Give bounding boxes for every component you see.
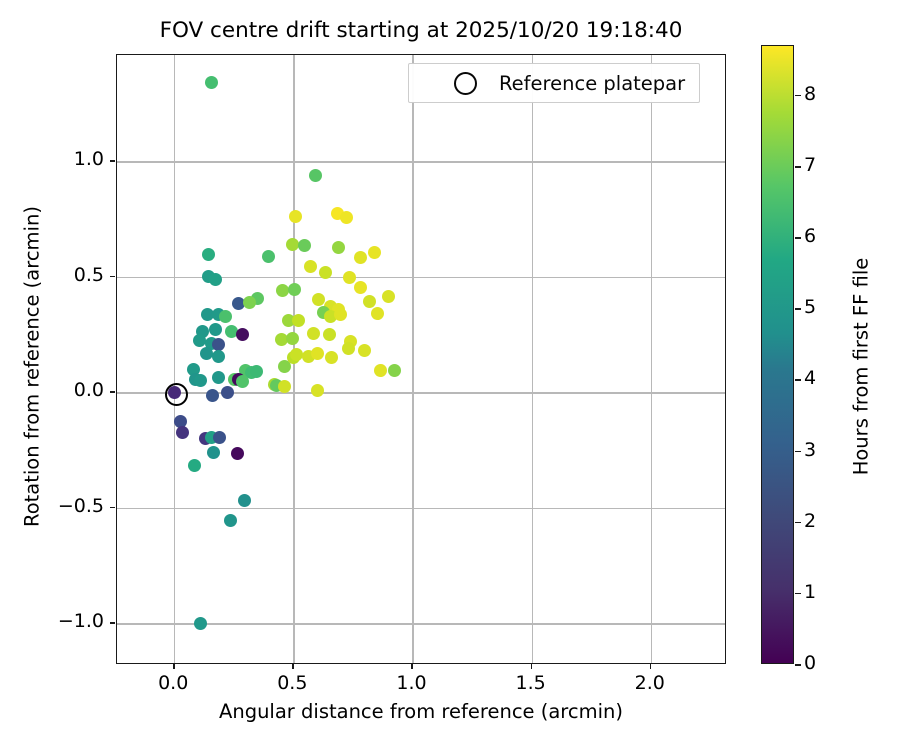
colorbar-tick [795, 237, 801, 239]
scatter-point [262, 250, 275, 263]
y-tick [110, 160, 115, 162]
scatter-point [304, 260, 317, 273]
gridline-vertical [412, 55, 413, 663]
scatter-point [374, 364, 387, 377]
scatter-point [224, 514, 237, 527]
scatter-point [200, 347, 213, 360]
colorbar-tick-label: 4 [804, 367, 816, 389]
scatter-point [368, 246, 381, 259]
plot-area [117, 55, 725, 663]
scatter-point [243, 296, 256, 309]
scatter-point [319, 266, 332, 279]
x-tick-label: 0.5 [252, 672, 332, 694]
x-axis-label: Angular distance from reference (arcmin) [116, 700, 726, 723]
colorbar [761, 45, 794, 664]
scatter-point [188, 459, 201, 472]
scatter-point [311, 347, 324, 360]
gridline-vertical [532, 55, 533, 663]
chart-root: FOV centre drift starting at 2025/10/20 … [0, 0, 900, 750]
x-tick [650, 664, 652, 669]
colorbar-tick [795, 95, 801, 97]
scatter-point [209, 273, 222, 286]
scatter-point [236, 375, 249, 388]
scatter-point [388, 364, 401, 377]
scatter-point [288, 283, 301, 296]
gridline-vertical [651, 55, 652, 663]
x-tick [173, 664, 175, 669]
scatter-point [334, 308, 347, 321]
scatter-point [194, 617, 207, 630]
y-tick [110, 391, 115, 393]
scatter-point [213, 431, 226, 444]
scatter-point [202, 248, 215, 261]
scatter-point [205, 76, 218, 89]
scatter-point [358, 344, 371, 357]
scatter-point [176, 426, 189, 439]
colorbar-tick-label: 1 [804, 581, 816, 603]
scatter-point [382, 290, 395, 303]
scatter-point [207, 446, 220, 459]
y-tick [110, 276, 115, 278]
colorbar-tick-label: 5 [804, 296, 816, 318]
gridline-horizontal [117, 161, 725, 162]
reference-platepar-marker [165, 383, 188, 406]
chart-title: FOV centre drift starting at 2025/10/20 … [0, 18, 842, 43]
scatter-point [278, 380, 291, 393]
scatter-point [238, 494, 251, 507]
colorbar-tick-label: 0 [804, 652, 816, 674]
gridline-horizontal [117, 623, 725, 624]
scatter-point [219, 310, 232, 323]
colorbar-tick [795, 522, 801, 524]
scatter-point [193, 334, 206, 347]
scatter-point [371, 307, 384, 320]
x-tick-label: 1.0 [371, 672, 451, 694]
colorbar-tick [795, 166, 801, 168]
scatter-point [312, 293, 325, 306]
scatter-point [343, 271, 356, 284]
colorbar-tick-label: 8 [804, 83, 816, 105]
gridline-horizontal [117, 508, 725, 509]
scatter-point [212, 350, 225, 363]
x-tick [411, 664, 413, 669]
scatter-point [236, 328, 249, 341]
colorbar-tick [795, 451, 801, 453]
scatter-point [332, 241, 345, 254]
scatter-point [309, 169, 322, 182]
y-tick [110, 507, 115, 509]
scatter-point [212, 371, 225, 384]
legend[interactable]: Reference platepar [408, 63, 700, 103]
scatter-point [323, 328, 336, 341]
scatter-point [342, 342, 355, 355]
colorbar-tick-label: 2 [804, 510, 816, 532]
legend-reference-platepar-icon [454, 72, 477, 95]
x-tick-label: 1.5 [491, 672, 571, 694]
scatter-point [206, 389, 219, 402]
scatter-point [209, 323, 222, 336]
scatter-point [325, 351, 338, 364]
colorbar-tick-label: 3 [804, 439, 816, 461]
scatter-point [354, 251, 367, 264]
y-axis-label: Rotation from reference (arcmin) [21, 62, 44, 672]
scatter-point [363, 295, 376, 308]
y-tick [110, 622, 115, 624]
gridline-vertical [174, 55, 175, 663]
colorbar-tick [795, 308, 801, 310]
x-tick-label: 2.0 [610, 672, 690, 694]
colorbar-tick-label: 7 [804, 154, 816, 176]
x-tick [292, 664, 294, 669]
scatter-point [307, 327, 320, 340]
scatter-point [194, 374, 207, 387]
x-tick [531, 664, 533, 669]
scatter-point [231, 447, 244, 460]
colorbar-tick-label: 6 [804, 225, 816, 247]
scatter-point [286, 238, 299, 251]
scatter-point [298, 239, 311, 252]
colorbar-label: Hours from first FF file [850, 62, 873, 672]
scatter-point [221, 386, 234, 399]
legend-item-label: Reference platepar [499, 72, 685, 95]
scatter-point [311, 384, 324, 397]
scatter-point [250, 365, 263, 378]
scatter-point [289, 210, 302, 223]
scatter-point [354, 281, 367, 294]
plot-axes [116, 54, 726, 664]
colorbar-tick [795, 664, 801, 666]
scatter-point [286, 332, 299, 345]
colorbar-tick [795, 379, 801, 381]
colorbar-tick [795, 593, 801, 595]
x-tick-label: 0.0 [133, 672, 213, 694]
scatter-point [292, 314, 305, 327]
scatter-point [340, 211, 353, 224]
